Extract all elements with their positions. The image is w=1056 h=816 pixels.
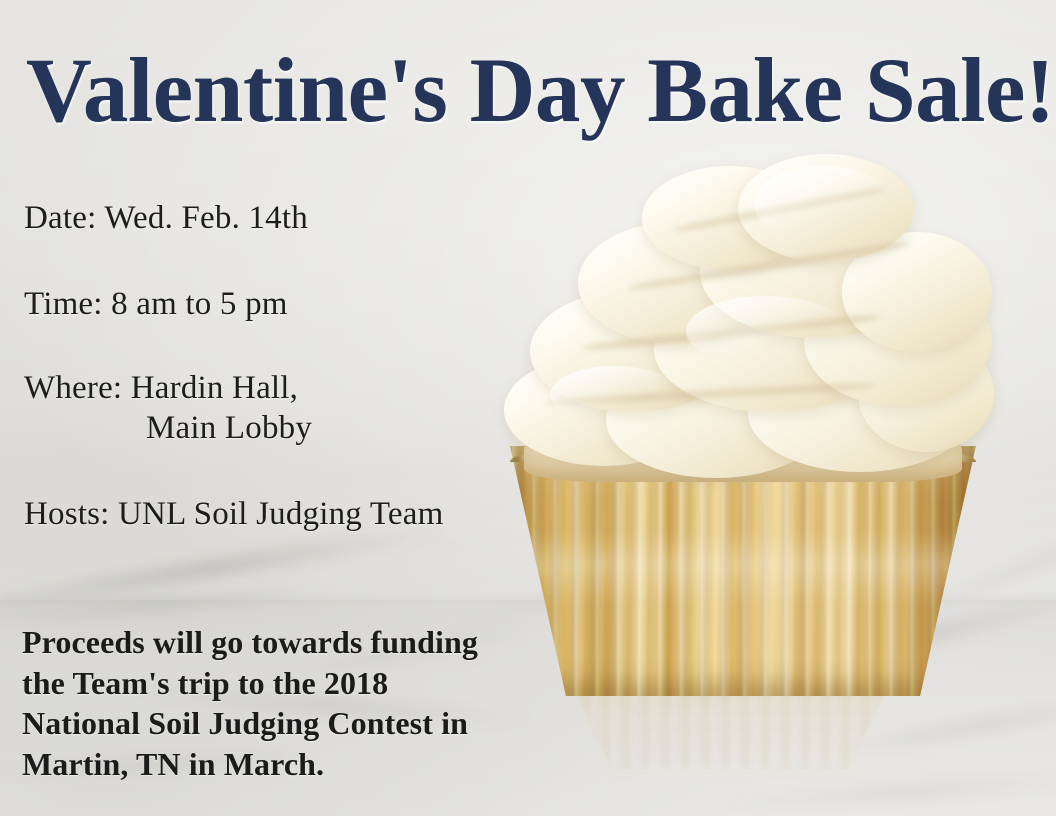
proceeds-paragraph: Proceeds will go towards funding the Tea… [22,622,602,785]
cupcake-frosting [486,140,1006,480]
bake-sale-flyer: Valentine's Day Bake Sale! Date: Wed. Fe… [0,0,1056,816]
proceeds-line: Proceeds will go towards funding [22,622,602,663]
page-title: Valentine's Day Bake Sale! [26,44,1026,136]
detail-where: Where: Hardin Hall, Main Lobby [24,368,312,449]
detail-hosts: Hosts: UNL Soil Judging Team [24,494,443,534]
detail-where-line1: Where: Hardin Hall, [24,370,298,406]
proceeds-line: Martin, TN in March. [22,744,602,785]
proceeds-line: the Team's trip to the 2018 [22,663,602,704]
proceeds-line: National Soil Judging Contest in [22,703,602,744]
detail-date: Date: Wed. Feb. 14th [24,198,308,238]
cupcake-image [486,140,1006,700]
detail-where-line2: Main Lobby [24,408,312,448]
detail-time: Time: 8 am to 5 pm [24,284,288,324]
